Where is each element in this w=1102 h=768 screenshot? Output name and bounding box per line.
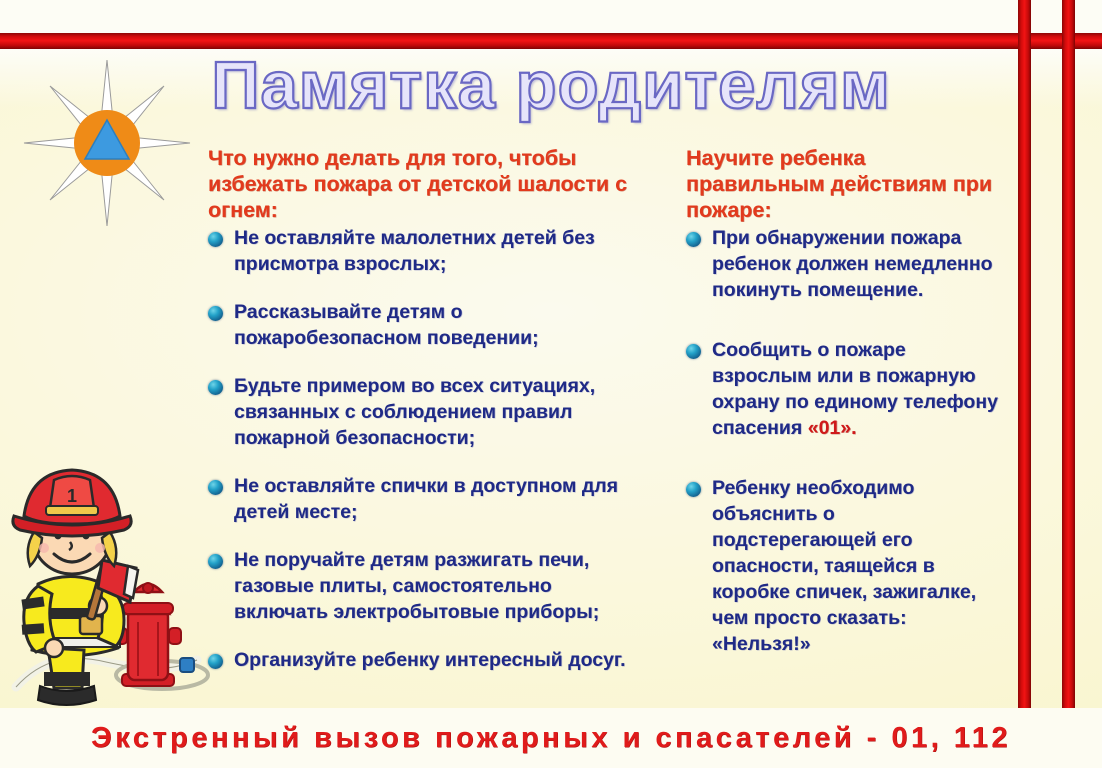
list-item-text: Не поручайте детям разжигать печи, газов… bbox=[234, 549, 599, 623]
list-item: Рассказывайте детям о пожаробезопасном п… bbox=[208, 299, 648, 351]
list-item: Ребенку необходимо объяснить о подстерег… bbox=[686, 475, 998, 657]
emercom-star-icon bbox=[22, 58, 192, 228]
bullet-icon bbox=[208, 554, 223, 569]
bullet-icon bbox=[208, 232, 223, 247]
list-item-text: Не оставляйте малолетних детей без присм… bbox=[234, 227, 595, 275]
emergency-banner: Экстренный вызов пожарных и спасателей -… bbox=[0, 708, 1102, 768]
list-item: Не оставляйте малолетних детей без присм… bbox=[208, 225, 648, 277]
right-column-list: При обнаружении пожара ребенок должен не… bbox=[686, 225, 998, 657]
bullet-icon bbox=[208, 654, 223, 669]
left-column: Что нужно делать для того, чтобы избежат… bbox=[208, 145, 648, 695]
bullet-icon bbox=[686, 482, 701, 497]
bullet-icon bbox=[208, 380, 223, 395]
firefighter-girl-with-hydrant: 1 bbox=[2, 462, 217, 707]
firefighter-illustration-icon: 1 bbox=[2, 462, 217, 707]
list-item-text: При обнаружении пожара ребенок должен не… bbox=[712, 227, 993, 301]
left-column-list: Не оставляйте малолетних детей без присм… bbox=[208, 225, 648, 673]
list-item-text: Будьте примером во всех ситуациях, связа… bbox=[234, 375, 595, 449]
list-item: Организуйте ребенку интересный досуг. bbox=[208, 647, 648, 673]
bullet-icon bbox=[208, 480, 223, 495]
list-item: Сообщить о пожаре взрослым или в пожарну… bbox=[686, 337, 998, 441]
list-item: Будьте примером во всех ситуациях, связа… bbox=[208, 373, 648, 451]
frame-bar-top-horizontal bbox=[0, 33, 1102, 49]
right-column-heading: Научите ребенка правильным действиям при… bbox=[686, 145, 998, 223]
right-column: Научите ребенка правильным действиям при… bbox=[686, 145, 998, 691]
left-column-heading: Что нужно делать для того, чтобы избежат… bbox=[208, 145, 648, 223]
fire-safety-poster: Памятка родителям bbox=[0, 0, 1102, 768]
list-item-text: Рассказывайте детям о пожаробезопасном п… bbox=[234, 301, 539, 349]
helmet-number: 1 bbox=[67, 486, 77, 506]
emergency-banner-text: Экстренный вызов пожарных и спасателей -… bbox=[91, 722, 1011, 755]
list-item-text: Организуйте ребенку интересный досуг. bbox=[234, 649, 626, 671]
emercom-star-logo bbox=[22, 58, 192, 228]
list-item: Не оставляйте спички в доступном для дет… bbox=[208, 473, 648, 525]
bullet-icon bbox=[686, 232, 701, 247]
list-item: Не поручайте детям разжигать печи, газов… bbox=[208, 547, 648, 625]
emergency-number-accent: «01». bbox=[808, 417, 857, 439]
bullet-icon bbox=[208, 306, 223, 321]
list-item: При обнаружении пожара ребенок должен не… bbox=[686, 225, 998, 303]
list-item-text: Не оставляйте спички в доступном для дет… bbox=[234, 475, 618, 523]
bullet-icon bbox=[686, 344, 701, 359]
list-item-text: Ребенку необходимо объяснить о подстерег… bbox=[712, 477, 976, 655]
